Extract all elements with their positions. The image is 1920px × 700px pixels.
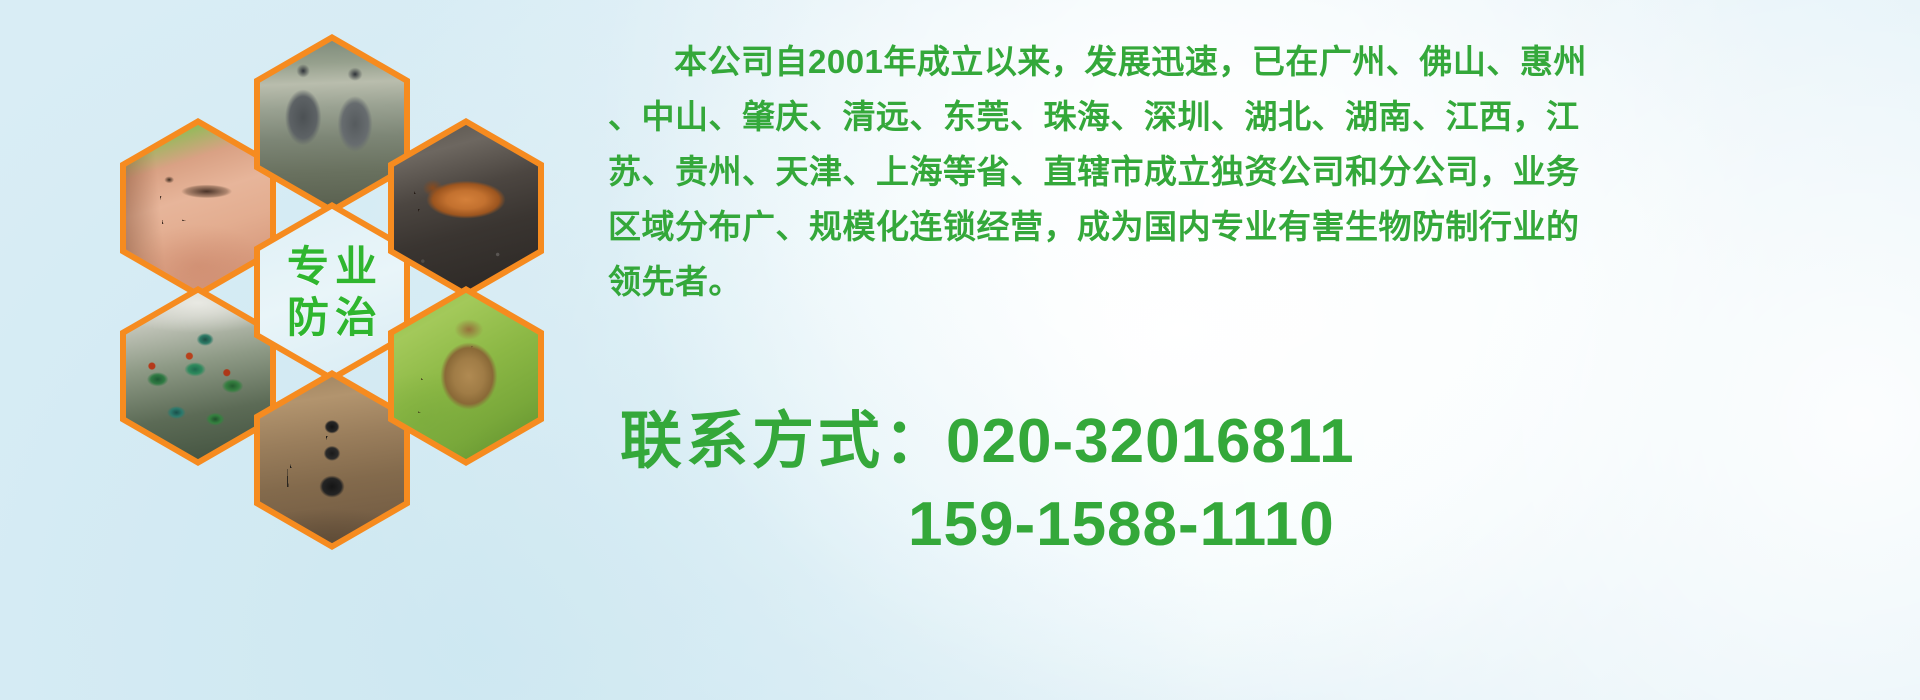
about-line-5: 领先者。: [608, 254, 1908, 309]
hex-inner: [260, 41, 404, 207]
stink-bug-photo: [394, 293, 538, 459]
hex-inner: [126, 125, 270, 291]
logo-line-2: 防治: [281, 295, 383, 340]
hex-cell-rats: [254, 34, 410, 214]
hex-photo-cluster: 专业 防治: [96, 18, 576, 578]
hex-inner: [126, 293, 270, 459]
rats-photo: [260, 41, 404, 207]
ant-photo: [260, 377, 404, 543]
contact-block: 联系方式：020-32016811 159-1588-1110: [620, 400, 1355, 566]
phone-landline[interactable]: 020-32016811: [946, 407, 1355, 476]
hex-inner: [260, 377, 404, 543]
contact-label: 联系方式: [620, 407, 884, 476]
about-line-3: 苏、贵州、天津、上海等省、直辖市成立独资公司和分公司，业务: [608, 144, 1908, 199]
hex-cell-logo: 专业 防治: [254, 202, 410, 382]
contact-colon: ：: [884, 407, 946, 476]
hex-cell-flies: [120, 286, 276, 466]
promo-banner: 专业 防治 本公司自2001年成立以来，发展迅速，已在广州、佛山、惠州 、中山、…: [0, 0, 1920, 700]
hex-cell-stink-bug: [388, 286, 544, 466]
cockroach-photo: [394, 125, 538, 291]
hex-inner: [394, 293, 538, 459]
about-line-2: 、中山、肇庆、清远、东莞、珠海、深圳、湖北、湖南、江西，江: [608, 89, 1908, 144]
hex-inner: 专业 防治: [260, 209, 404, 375]
about-line-4: 区域分布广、规模化连锁经营，成为国内专业有害生物防制行业的: [608, 199, 1908, 254]
hex-cell-cockroach: [388, 118, 544, 298]
contact-secondary-row: 159-1588-1110: [620, 483, 1355, 566]
mosquito-photo: [126, 125, 270, 291]
logo-line-1: 专业: [281, 244, 383, 289]
phone-mobile[interactable]: 159-1588-1110: [908, 490, 1335, 559]
flies-photo: [126, 293, 270, 459]
contact-primary-row: 联系方式：020-32016811: [620, 400, 1355, 483]
hex-inner: [394, 125, 538, 291]
copy-column: 本公司自2001年成立以来，发展迅速，已在广州、佛山、惠州 、中山、肇庆、清远、…: [608, 34, 1908, 309]
about-line-1: 本公司自2001年成立以来，发展迅速，已在广州、佛山、惠州: [608, 34, 1908, 89]
hex-cell-mosquito: [120, 118, 276, 298]
about-paragraph: 本公司自2001年成立以来，发展迅速，已在广州、佛山、惠州 、中山、肇庆、清远、…: [608, 34, 1908, 309]
hex-cell-ant: [254, 370, 410, 550]
